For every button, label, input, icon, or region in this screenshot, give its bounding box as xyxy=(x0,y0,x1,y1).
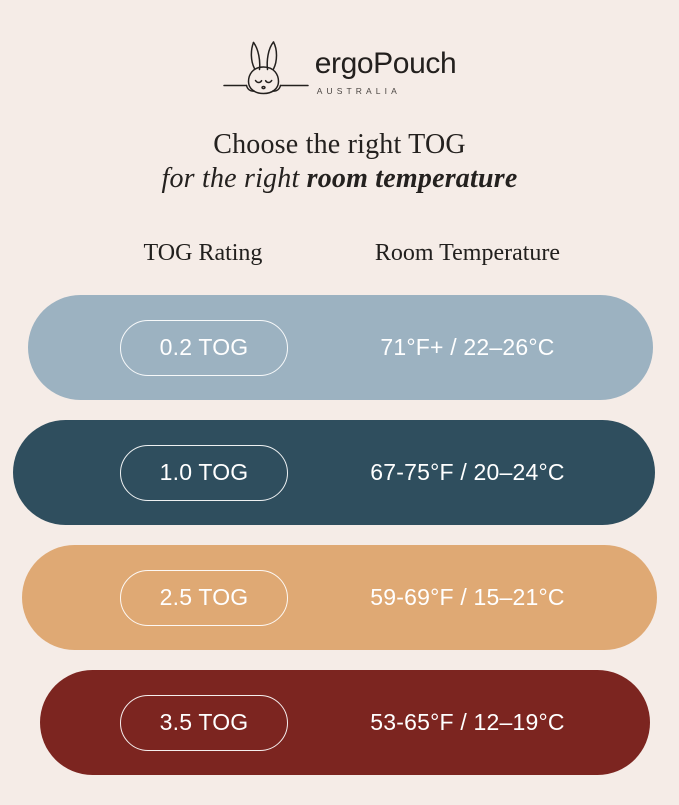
page-title-line-2: for the right room temperature xyxy=(0,162,679,196)
brand-sub-wordmark: AUSTRALIA xyxy=(317,86,401,96)
column-header-room-temperature: Room Temperature xyxy=(326,240,609,267)
column-headers: TOG Rating Room Temperature xyxy=(0,240,679,274)
tog-row[interactable]: 1.0 TOG67-75°F / 20–24°C xyxy=(13,420,655,525)
tog-row[interactable]: 3.5 TOG53-65°F / 12–19°C xyxy=(40,670,650,775)
room-temperature-label: 59-69°F / 15–21°C xyxy=(326,584,609,611)
tog-rating-badge[interactable]: 3.5 TOG xyxy=(120,695,288,751)
room-temperature-label: 71°F+ / 22–26°C xyxy=(326,334,609,361)
wordmark-block: ergoPouch AUSTRALIA xyxy=(315,49,457,98)
tog-rating-label: 3.5 TOG xyxy=(160,709,249,736)
tog-rating-label: 1.0 TOG xyxy=(160,459,249,486)
page-title-line-2-prefix: for the right xyxy=(161,163,306,194)
column-header-tog-rating: TOG Rating xyxy=(98,240,308,267)
tog-rating-badge[interactable]: 0.2 TOG xyxy=(120,320,288,376)
tog-rating-badge[interactable]: 1.0 TOG xyxy=(120,445,288,501)
page-title: Choose the right TOG for the right room … xyxy=(0,128,679,196)
tog-row[interactable]: 2.5 TOG59-69°F / 15–21°C xyxy=(22,545,657,650)
tog-row[interactable]: 0.2 TOG71°F+ / 22–26°C xyxy=(28,295,653,400)
bunny-logo-icon xyxy=(223,36,309,98)
page-title-line-2-emphasis: room temperature xyxy=(307,163,518,194)
tog-rating-badge[interactable]: 2.5 TOG xyxy=(120,570,288,626)
brand-logo: ergoPouch AUSTRALIA xyxy=(0,34,679,100)
room-temperature-label: 53-65°F / 12–19°C xyxy=(326,709,609,736)
brand-wordmark: ergoPouch xyxy=(315,49,457,79)
logo-inner: ergoPouch AUSTRALIA xyxy=(223,36,457,98)
tog-rating-label: 0.2 TOG xyxy=(160,334,249,361)
page-title-line-1: Choose the right TOG xyxy=(0,128,679,162)
tog-rating-label: 2.5 TOG xyxy=(160,584,249,611)
room-temperature-label: 67-75°F / 20–24°C xyxy=(326,459,609,486)
